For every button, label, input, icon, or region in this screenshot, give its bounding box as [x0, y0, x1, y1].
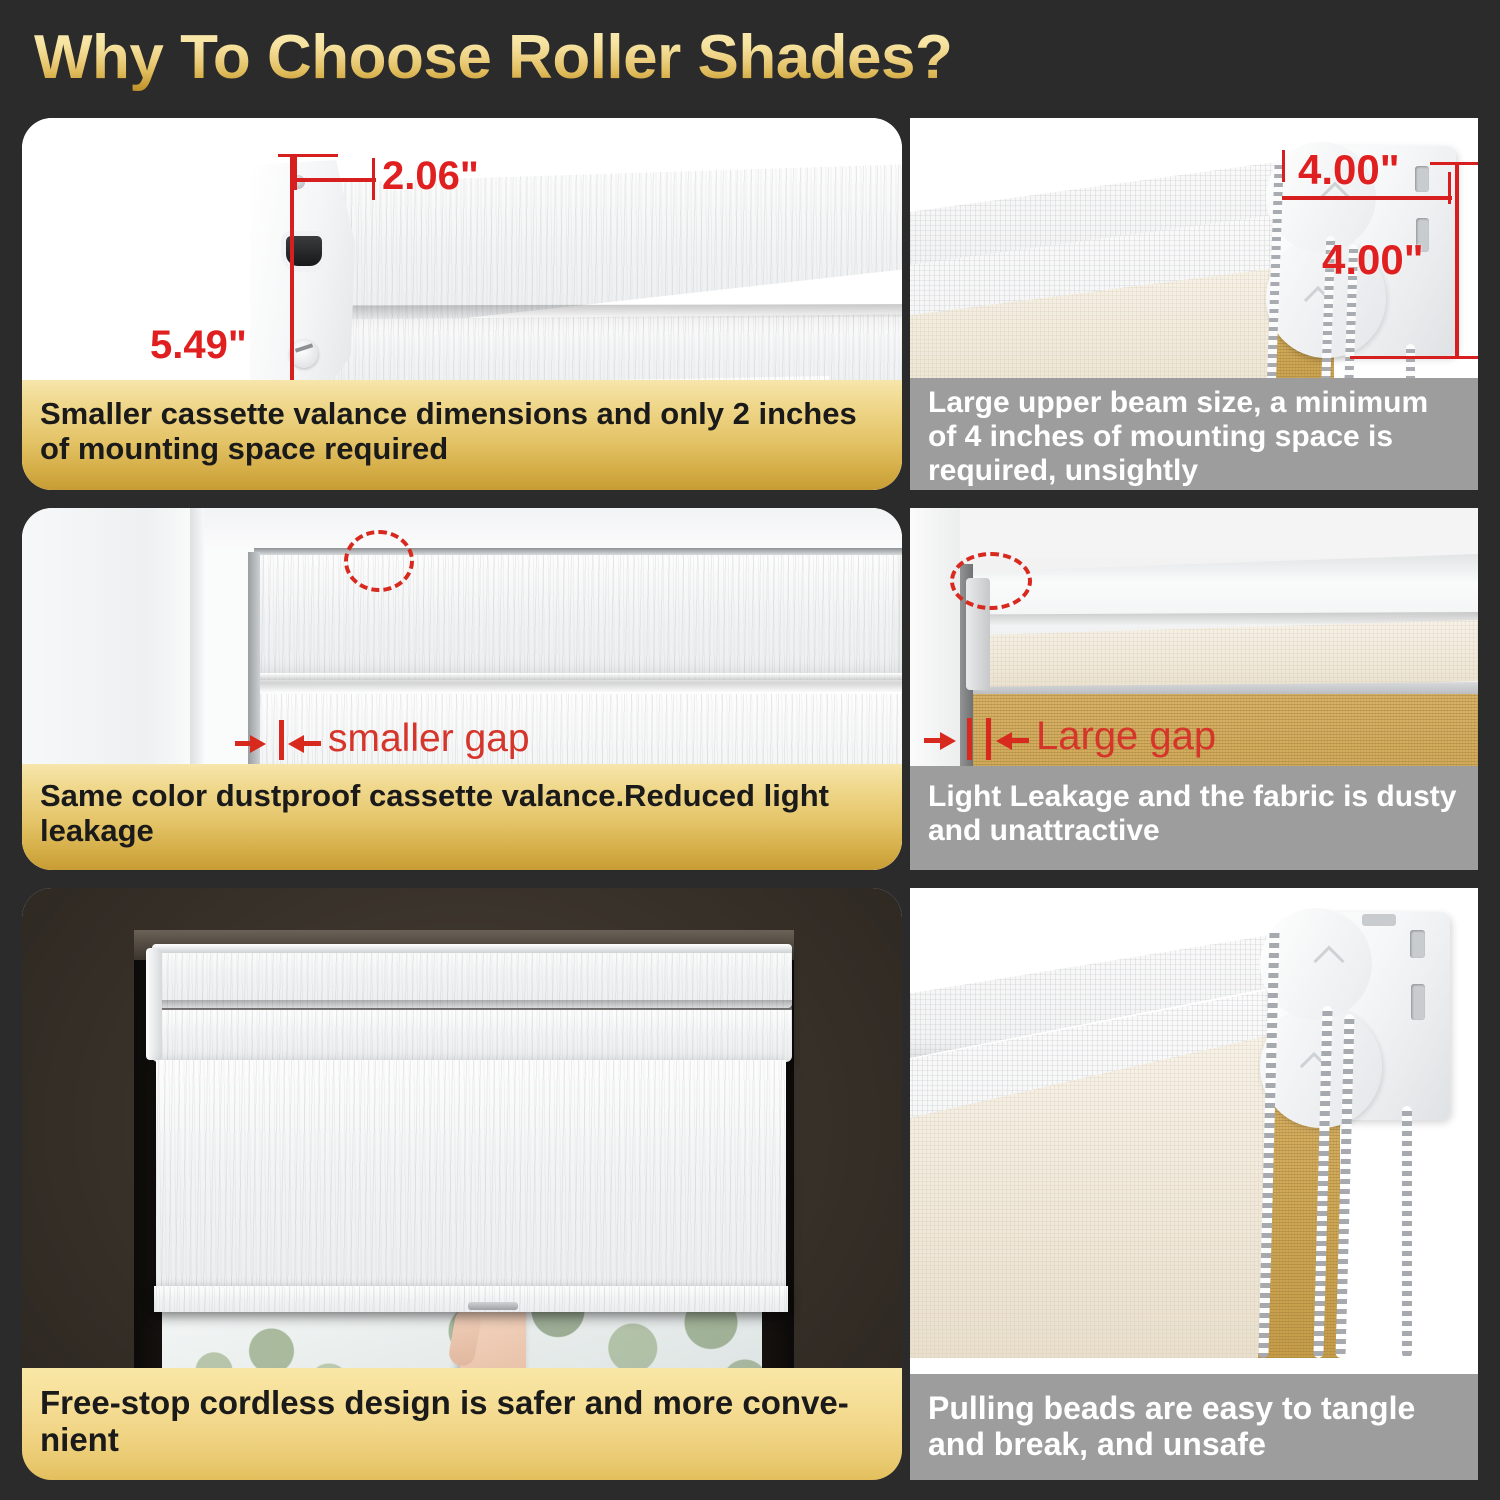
- gap-highlight-circle: [950, 552, 1032, 610]
- beam-height-dimension-line: [1455, 162, 1459, 358]
- gap-callout-label: smaller gap: [328, 717, 530, 761]
- gap-arrow-right-icon: [996, 732, 1012, 750]
- panel-grid: 2.06" 5.49" Smaller cassette valance dim…: [0, 0, 1500, 1500]
- panel-caption-pro-cassette-size: Smaller cassette valance dimensions and …: [22, 380, 902, 490]
- gap-bar-inner: [967, 718, 972, 760]
- panel-pro-dustproof-valance[interactable]: smaller gap Same color dustproof cassett…: [22, 508, 902, 870]
- bracket-slot-bottom-icon: [1411, 984, 1425, 1020]
- panel-con-light-leakage[interactable]: Large gap Light Leakage and the fabric i…: [910, 508, 1478, 870]
- gap-bar-outer: [986, 718, 991, 760]
- bracket-slot-top-icon: [1410, 930, 1425, 958]
- beam-height-dimension-label: 4.00": [1322, 236, 1424, 284]
- valance-groove: [254, 673, 902, 693]
- width-tick-left: [294, 154, 297, 190]
- wall-background: [910, 508, 1478, 558]
- beam-width-tick-left: [1282, 150, 1285, 182]
- head-rail-left-cap: [146, 948, 162, 1060]
- gap-arrow-left-icon: [940, 732, 956, 750]
- panel-caption-con-beam-size: Large upper beam size, a minimum of 4 in…: [910, 378, 1478, 490]
- panel-con-pull-beads[interactable]: Pulling beads are easy to tangle and bre…: [910, 888, 1478, 1480]
- panel-caption-pro-dustproof-valance: Same color dustproof cassette valance.Re…: [22, 764, 902, 870]
- valance-lower-lip: [152, 1010, 792, 1062]
- bracket-slot-top-icon: [1415, 166, 1429, 192]
- width-dimension-label: 2.06": [382, 154, 479, 199]
- gap-highlight-circle: [344, 530, 414, 592]
- shade-fabric: [156, 1060, 786, 1298]
- panel-caption-con-light-leakage: Light Leakage and the fabric is dusty an…: [910, 766, 1478, 870]
- gap-arrow-left-stem: [235, 741, 253, 746]
- gap-arrow-right-stem: [303, 741, 321, 746]
- cap-screw-icon: [290, 340, 318, 368]
- panel-caption-con-pull-beads: Pulling beads are easy to tangle and bre…: [910, 1374, 1478, 1480]
- panel-pro-cassette-size[interactable]: 2.06" 5.49" Smaller cassette valance dim…: [22, 118, 902, 490]
- bead-chain-4: [1402, 1106, 1412, 1358]
- beam-height-tick-bottom: [1350, 356, 1478, 359]
- panel-pro-cordless-design[interactable]: Free-stop cordless design is safer and m…: [22, 888, 902, 1480]
- gap-callout-label: Large gap: [1036, 714, 1216, 759]
- gap-bar: [279, 720, 284, 760]
- width-dimension-line: [294, 178, 376, 182]
- head-rail-top-edge: [152, 944, 792, 953]
- bracket-notch-icon: [1362, 914, 1396, 926]
- height-tick-top: [278, 154, 338, 157]
- height-dimension-label: 5.49": [150, 323, 247, 368]
- beam-width-dimension-line: [1282, 196, 1452, 200]
- beam-height-tick-top: [1430, 162, 1478, 165]
- end-cap: [250, 160, 355, 405]
- bottom-rail-handle-icon: [468, 1302, 518, 1310]
- panel-caption-pro-cordless-design: Free-stop cordless design is safer and m…: [22, 1368, 902, 1480]
- gap-arrow-right-icon: [288, 735, 304, 753]
- window-frame-top: [204, 508, 902, 548]
- beam-width-dimension-label: 4.00": [1298, 146, 1400, 194]
- gap-arrow-left-stem: [924, 738, 942, 743]
- valance-head-rail: [152, 946, 792, 1008]
- gap-arrow-right-stem: [1011, 738, 1029, 743]
- panel-con-beam-size[interactable]: 4.00" 4.00" Large upper beam size, a min…: [910, 118, 1478, 490]
